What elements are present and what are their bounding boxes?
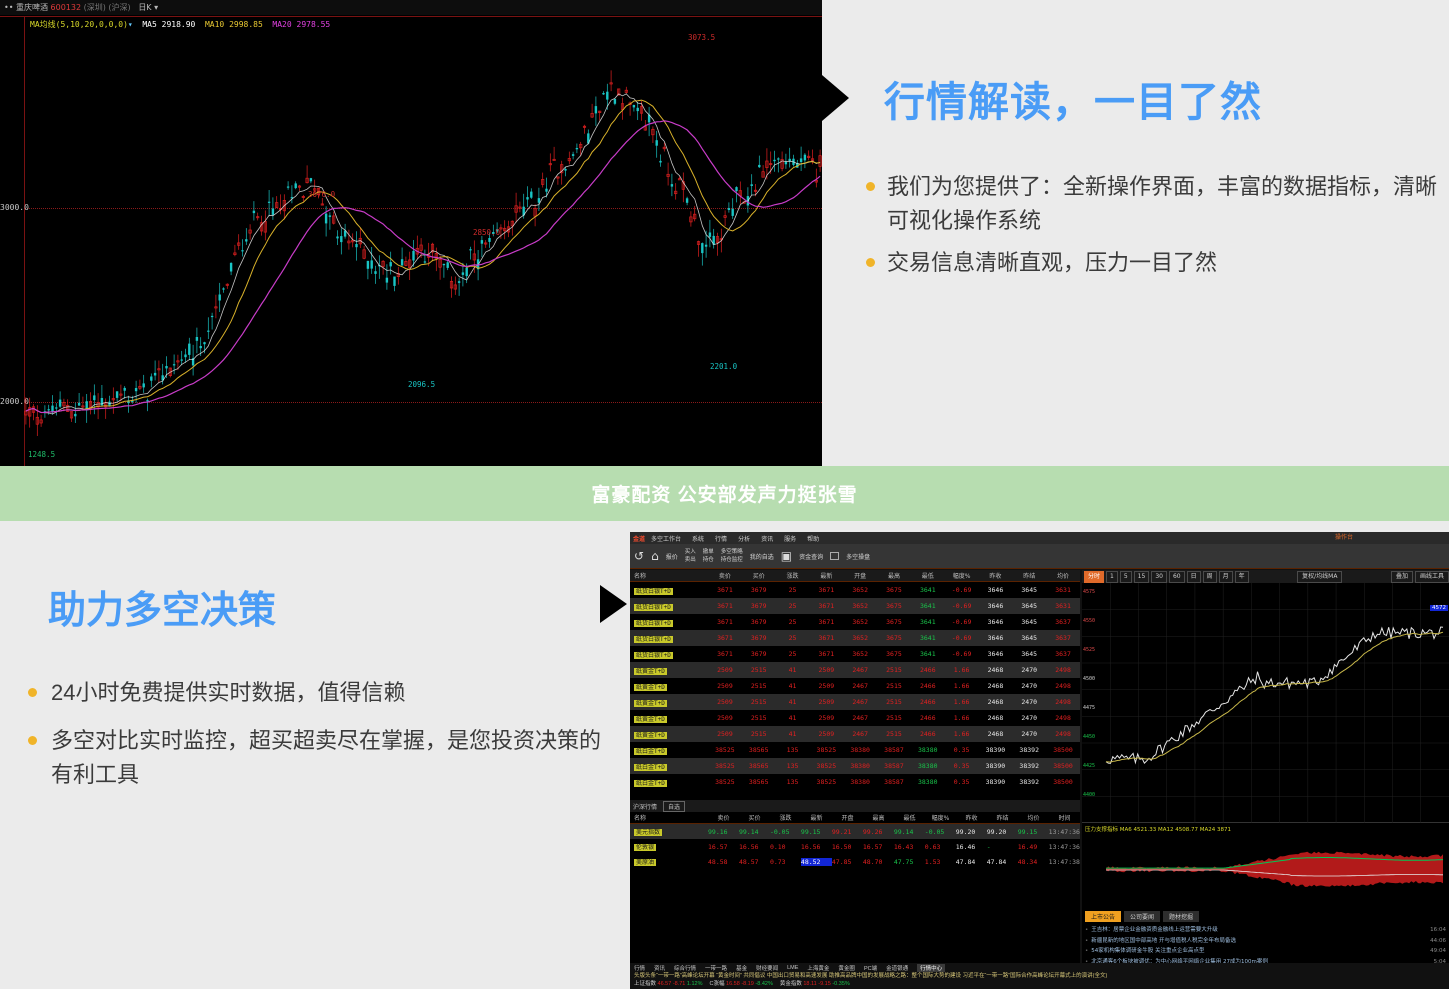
terminal-logo: 金道 [633, 534, 645, 543]
timeframe-button-周[interactable]: 周 [1203, 571, 1217, 583]
watchlist-cell: 41 [776, 682, 810, 690]
detail-column-header[interactable]: 名称 [630, 813, 708, 822]
timeframe-button-30[interactable]: 30 [1151, 571, 1167, 583]
watchlist-cell: 25 [776, 634, 810, 642]
news-item-date: 16:04 [1430, 925, 1446, 936]
watchlist-symbol-name: 纸白金T+D [634, 780, 667, 787]
news-tab-1[interactable]: 公司要闻 [1124, 911, 1160, 922]
toolbar-buy-label[interactable]: 买入 [685, 548, 696, 556]
watchlist-cell: 2509 [809, 666, 843, 674]
watchlist-cell: 3637 [1046, 634, 1080, 642]
detail-cell: 48.57 [739, 858, 770, 866]
detail-cell: 16.56 [801, 843, 832, 851]
table-row[interactable]: 纸货白银T+D36713679253671365236753641-0.6936… [630, 582, 1080, 598]
timeframe-active[interactable]: 分时 [1084, 571, 1104, 583]
toolbar-sell-label[interactable]: 卖出 [685, 556, 696, 564]
watchlist-cell: 38500 [1046, 762, 1080, 770]
toolbar-watchlist-label[interactable]: 我的自选 [750, 552, 774, 561]
status-tab-active[interactable]: 行情中心 [917, 964, 945, 972]
watchlist-cell: 3652 [843, 634, 877, 642]
top-headline: 行情解读，一目了然 [884, 68, 1262, 128]
watchlist-cell: 2470 [1012, 682, 1046, 690]
kline-annotation-5: 1248.5 [28, 450, 55, 459]
toolbar-quote-label[interactable]: 报价 [666, 552, 678, 561]
toolbar-trading-label[interactable]: 多空操盘 [846, 552, 870, 561]
detail-cell: - [987, 843, 1018, 851]
timeframe-button-日[interactable]: 日 [1187, 571, 1201, 583]
watchlist-cell: 2515 [877, 714, 911, 722]
watchlist-cell: 2468 [979, 698, 1013, 706]
menu-item-3[interactable]: 分析 [738, 534, 750, 543]
watchlist-header: 名称卖价买价涨跌最新开盘最高最低幅度%昨收昨结均价 [630, 570, 1080, 582]
watchlist-cell: 2467 [843, 714, 877, 722]
detail-cell: 13:47:36 [1049, 843, 1080, 851]
watchlist-cell: 25 [776, 602, 810, 610]
watchlist-cell: 3679 [742, 634, 776, 642]
watchlist-cell: 2470 [1012, 714, 1046, 722]
kline-title-market: (深圳) [84, 3, 106, 12]
list-item: 交易信息清晰直观，压力一目了然 [866, 246, 1446, 280]
table-row[interactable]: 纸货白银T+D36713679253671365236753641-0.6936… [630, 646, 1080, 662]
detail-cell: 47.85 [832, 858, 863, 866]
list-item: 多空对比实时监控，超买超卖尽在掌握，是您投资决策的有利工具 [28, 724, 608, 792]
toolbar-position-label[interactable]: 持仓 [703, 556, 714, 564]
detail-cell: 99.21 [832, 828, 863, 836]
kline-annotation-1: 3076.0 [308, 190, 335, 199]
watchlist-symbol-name: 纸黄金T+D [634, 668, 667, 675]
detail-column-header[interactable]: 幅度% [925, 813, 956, 822]
watchlist-cell: 0.35 [945, 778, 979, 786]
detail-body[interactable]: 美元指数99.1699.14-0.0599.1599.2199.2699.14-… [630, 824, 1080, 869]
bullet-dot-icon [28, 688, 37, 697]
watchlist-column-header[interactable]: 昨结 [1012, 571, 1046, 580]
chevron-down-icon[interactable]: ▾ [154, 3, 158, 12]
watchlist-cell: 3679 [742, 586, 776, 594]
detail-cell: 47.84 [987, 858, 1018, 866]
watchlist-column-header[interactable]: 均价 [1046, 571, 1080, 580]
watchlist-column-header[interactable]: 幅度% [945, 571, 979, 580]
watchlist-name-cell: 纸黄金T+D [630, 714, 708, 723]
table-row[interactable]: 纸黄金T+D250925154125092467251524661.662468… [630, 662, 1080, 678]
detail-cell: -0.05 [770, 828, 801, 836]
current-price-flag: 4572 [1430, 605, 1448, 611]
watchlist-cell: 3675 [877, 618, 911, 626]
timeframe-button-1[interactable]: 1 [1106, 571, 1118, 583]
watchlist-cell: 2509 [708, 730, 742, 738]
timeframe-button-60[interactable]: 60 [1169, 571, 1185, 583]
index-label: 黄金指数 [780, 981, 804, 987]
status-tab[interactable]: 黄金圈 [838, 964, 855, 972]
news-tab-0[interactable]: 上市公告 [1085, 911, 1121, 922]
drawing-tools-button[interactable]: 画线工具 [1415, 571, 1449, 583]
watchlist-cell: 2467 [843, 682, 877, 690]
watchlist-cell: -0.69 [945, 650, 979, 658]
top-copy-block: 行情解读，一目了然 我们为您提供了：全新操作界面，丰富的数据指标，清晰可视化操作… [838, 0, 1449, 466]
watchlist-cell: 3646 [979, 602, 1013, 610]
watchlist-cell: 41 [776, 714, 810, 722]
watchlist-cell: 2466 [911, 698, 945, 706]
top-bullet-text-1: 交易信息清晰直观，压力一目了然 [887, 246, 1217, 280]
watchlist-name-cell: 纸货白银T+D [630, 634, 708, 643]
table-row[interactable]: 纸货白银T+D36713679253671365236753641-0.6936… [630, 598, 1080, 614]
watchlist-name-cell: 纸货白银T+D [630, 650, 708, 659]
detail-cell: 13:47:36 [1049, 828, 1080, 836]
watchlist-cell: 38390 [979, 762, 1013, 770]
news-item-date: 49:04 [1430, 946, 1446, 957]
status-tab[interactable]: 资讯 [654, 964, 665, 972]
watchlist-cell: 38380 [843, 762, 877, 770]
watchlist-column-header[interactable]: 开盘 [843, 571, 877, 580]
watchlist-name-cell: 纸黄金T+D [630, 682, 708, 691]
watchlist-cell: 38525 [708, 746, 742, 754]
watchlist-cell: 3652 [843, 586, 877, 594]
timeframe-list[interactable]: 15153060日周月年 [1106, 571, 1249, 583]
detail-name-cell: 美原油 [630, 857, 708, 866]
menu-item-2[interactable]: 行情 [715, 534, 727, 543]
watchlist-cell: 38500 [1046, 778, 1080, 786]
watchlist-cell: 135 [776, 746, 810, 754]
detail-column-header[interactable]: 时间 [1049, 813, 1080, 822]
detail-cell: 47.84 [956, 858, 987, 866]
watchlist-cell: 3671 [809, 602, 843, 610]
watchlist-cell: 2498 [1046, 730, 1080, 738]
watchlist-cell: 2515 [742, 682, 776, 690]
detail-column-header[interactable]: 昨收 [956, 813, 987, 822]
detail-name-cell: 伦敦银 [630, 842, 708, 851]
watchlist-column-header[interactable]: 最低 [911, 571, 945, 580]
list-item[interactable]: •新疆昆新的地区国中部高地 开与增值税人税完全年布局备选44:06 [1085, 936, 1446, 947]
watchlist-symbol-name: 纸黄金T+D [634, 716, 667, 723]
watchlist-cell: 3646 [979, 634, 1013, 642]
watchlist-body[interactable]: 纸货白银T+D36713679253671365236753641-0.6936… [630, 582, 1080, 790]
watchlist-cell: 3645 [1012, 618, 1046, 626]
fullscreen-icon[interactable] [830, 552, 839, 560]
menu-item-6[interactable]: 帮助 [807, 534, 819, 543]
watchlist-symbol-name: 纸货白银T+D [634, 620, 673, 627]
kline-annotation-0: 3073.5 [688, 33, 715, 42]
watchlist-column-header[interactable]: 买价 [742, 571, 776, 580]
detail-column-header[interactable]: 涨跌 [770, 813, 801, 822]
index-change: -9.15 [818, 981, 832, 987]
table-row[interactable]: 纸货白银T+D36713679253671365236753641-0.6936… [630, 630, 1080, 646]
watchlist-panel: 名称卖价买价涨跌最新开盘最高最低幅度%昨收昨结均价 纸货白银T+D3671367… [630, 570, 1080, 975]
watchlist-symbol-name: 纸黄金T+D [634, 732, 667, 739]
table-row[interactable]: 纸白金T+D3852538565135385253838038587383800… [630, 774, 1080, 790]
watchlist-cell: 38525 [809, 746, 843, 754]
watchlist-cell: 3646 [979, 618, 1013, 626]
menu-item-1[interactable]: 系统 [692, 534, 704, 543]
back-icon[interactable]: ↺ [634, 549, 644, 563]
indicator-canvas [1082, 823, 1449, 909]
watchlist-cell: 38392 [1012, 762, 1046, 770]
bullet-dot-icon: • [1085, 936, 1088, 947]
menu-item-5[interactable]: 服务 [784, 534, 796, 543]
table-row[interactable]: 纸黄金T+D250925154125092467251524661.662468… [630, 726, 1080, 742]
watchlist-cell: 2467 [843, 666, 877, 674]
watchlist-name-cell: 纸白金T+D [630, 762, 708, 771]
toolbar-monitor-label[interactable]: 持仓监控 [721, 556, 743, 564]
watchlist-cell: 3679 [742, 650, 776, 658]
indicator-select[interactable]: 复权/均线MA [1297, 571, 1342, 583]
watchlist-name-cell: 纸黄金T+D [630, 730, 708, 739]
watchlist-cell: 3675 [877, 586, 911, 594]
watchlist-symbol-name: 纸黄金T+D [634, 684, 667, 691]
statusbar-tabs-2[interactable]: 行情资讯综合行情一带一路基金财经要闻LME上海黄金黄金圈PC端金道银通行情中心 [630, 963, 1449, 972]
watchlist-cell: 2470 [1012, 730, 1046, 738]
watchlist-cell: 1.66 [945, 666, 979, 674]
watchlist-cell: 38390 [979, 746, 1013, 754]
watchlist-cell: 2509 [708, 666, 742, 674]
list-item[interactable]: •王吉林：居票企业金融资质金融线上运营需要大升级16:04 [1085, 925, 1446, 936]
watchlist-column-header[interactable]: 名称 [630, 571, 708, 580]
timeframe-button-15[interactable]: 15 [1134, 571, 1150, 583]
watchlist-name-cell: 纸货白银T+D [630, 618, 708, 627]
watchlist-cell: 2470 [1012, 666, 1046, 674]
watchlist-symbol-name: 纸货白银T+D [634, 604, 673, 611]
kline-annotation-2: 2850.0 [473, 228, 500, 237]
indicator-chart[interactable]: 压力支撑指标 MA6 4521.33 MA12 4508.77 MA24 387… [1082, 823, 1449, 909]
detail-column-header[interactable]: 最高 [863, 813, 894, 822]
toolbar-strategy-label[interactable]: 多空策略 [721, 548, 743, 556]
watchlist-cell: 38587 [877, 778, 911, 786]
watchlist-cell: 38380 [843, 746, 877, 754]
detail-panel: 沪深行情 自选 名称卖价买价涨跌最新开盘最高最低幅度%昨收昨结均价时间 美元指数… [630, 800, 1080, 870]
detail-symbol-name: 伦敦银 [634, 844, 656, 851]
status-tab[interactable]: 行情 [634, 964, 645, 972]
detail-cell: 16.50 [832, 843, 863, 851]
status-tab[interactable]: 一带一路 [705, 964, 727, 972]
watchlist-cell: 2467 [843, 698, 877, 706]
detail-cell: 13:47:38 [1049, 858, 1080, 866]
watchlist-cell: 2466 [911, 730, 945, 738]
news-item-title[interactable]: 王吉林：居票企业金融资质金融线上运营需要大升级 [1091, 925, 1430, 936]
status-tab[interactable]: PC端 [864, 964, 877, 972]
pointer-arrow-bottom [600, 585, 627, 623]
home-icon[interactable]: ⌂ [651, 549, 659, 563]
watchlist-cell: 3675 [877, 634, 911, 642]
watchlist-cell: 3679 [742, 618, 776, 626]
watchlist-cell: -0.69 [945, 602, 979, 610]
detail-column-header[interactable]: 最低 [894, 813, 925, 822]
detail-column-header[interactable]: 昨结 [987, 813, 1018, 822]
watchlist-cell: 3671 [809, 650, 843, 658]
watchlist-cell: 3641 [911, 618, 945, 626]
table-row[interactable]: 纸黄金T+D250925154125092467251524661.662468… [630, 678, 1080, 694]
index-summary: 上证指数 46.57 -8.71 1.12%C涨幅 16.58 -8.19 -8… [630, 980, 1449, 988]
status-tab[interactable]: 综合行情 [674, 964, 696, 972]
index-value: 46.57 [658, 981, 673, 987]
kline-candles [24, 17, 822, 466]
trading-terminal-screenshot: 金道 多空工作台 系统 行情 分析 资讯 服务 帮助 操作台 ↺ ⌂ 报价 买入… [630, 532, 1449, 989]
watchlist-cell: -0.69 [945, 586, 979, 594]
detail-cell: 1.53 [925, 858, 956, 866]
bottom-bullet-list: 24小时免费提供实时数据，值得信赖 多空对比实时监控，超买超卖尽在掌握，是您投资… [28, 676, 608, 806]
slide-page: •• 重庆啤酒 600132 (深圳) (沪深) 日K ▾ MA均线(5,10,… [0, 0, 1449, 989]
kline-period[interactable]: 日K [138, 3, 151, 12]
watchlist-cell: 2515 [742, 714, 776, 722]
index-change: -8.71 [673, 981, 687, 987]
watchlist-cell: 3652 [843, 650, 877, 658]
watchlist-name-cell: 纸白金T+D [630, 746, 708, 755]
watchlist-cell: 3671 [708, 602, 742, 610]
watchlist-cell: 2515 [742, 730, 776, 738]
watchlist-cell: 3631 [1046, 586, 1080, 594]
watchlist-cell: 2466 [911, 682, 945, 690]
news-item-title[interactable]: 54家机构集体调研金牛股 关注重点企业高点型 [1091, 946, 1430, 957]
watchlist-cell: 3671 [708, 586, 742, 594]
detail-tab-1[interactable]: 自选 [663, 801, 685, 812]
watchlist-cell: 38565 [742, 778, 776, 786]
news-item-title[interactable]: 新疆昆新的地区国中部高地 开与增值税人税完全年布局备选 [1091, 936, 1430, 947]
watchlist-cell: 25 [776, 586, 810, 594]
watchlist-cell: 38565 [742, 762, 776, 770]
bullet-dot-icon: • [1085, 946, 1088, 957]
watchlist-cell: 38380 [843, 778, 877, 786]
watchlist-cell: 3641 [911, 602, 945, 610]
watchlist-cell: 3645 [1012, 586, 1046, 594]
watchlist-cell: 3641 [911, 634, 945, 642]
table-row[interactable]: 纸白金T+D3852538565135385253838038587383800… [630, 758, 1080, 774]
watchlist-cell: 2498 [1046, 698, 1080, 706]
watchlist-cell: 3645 [1012, 602, 1046, 610]
detail-cell: 99.20 [956, 828, 987, 836]
watchlist-cell: 1.66 [945, 698, 979, 706]
watchlist-cell: 2498 [1046, 714, 1080, 722]
detail-cell: 48.70 [863, 858, 894, 866]
chart-panel: 分时 15153060日周月年 复权/均线MA 叠加 画线工具 45754550… [1082, 570, 1449, 975]
table-row[interactable]: 纸黄金T+D250925154125092467251524661.662468… [630, 694, 1080, 710]
status-tab[interactable]: 上海黄金 [807, 964, 829, 972]
detail-name-cell: 美元指数 [630, 827, 708, 836]
watchlist-cell: 2515 [877, 666, 911, 674]
price-chart[interactable]: 45754550452545004475445044254400 4572 [1082, 583, 1449, 823]
watchlist-name-cell: 纸白金T+D [630, 778, 708, 787]
detail-cell: 16.46 [956, 843, 987, 851]
news-tab-2[interactable]: 题材挖掘 [1163, 911, 1199, 922]
top-bullet-list: 我们为您提供了：全新操作界面，丰富的数据指标，清晰可视化操作系统 交易信息清晰直… [866, 170, 1446, 288]
bullet-dot-icon: • [1085, 925, 1088, 936]
toolbar-trade-group[interactable]: 买入 卖出 [685, 548, 696, 565]
detail-cell: 47.75 [894, 858, 925, 866]
menu-item-0[interactable]: 多空工作台 [651, 534, 681, 543]
watchlist-cell: 3671 [809, 634, 843, 642]
watchlist-cell: 3645 [1012, 634, 1046, 642]
index-percent: -8.42% [755, 981, 772, 987]
watchlist-cell: 3675 [877, 602, 911, 610]
kline-title-prefix: •• [4, 3, 13, 12]
watchlist-cell: 3652 [843, 618, 877, 626]
timeframe-button-月[interactable]: 月 [1219, 571, 1233, 583]
bottom-headline: 助力多空决策 [48, 579, 276, 634]
index-percent: 1.12% [687, 981, 703, 987]
overlay-button[interactable]: 叠加 [1391, 571, 1413, 583]
watchlist-column-header[interactable]: 昨收 [979, 571, 1013, 580]
detail-cell: 16.57 [708, 843, 739, 851]
watchlist-column-header[interactable]: 最高 [877, 571, 911, 580]
watchlist-name-cell: 纸黄金T+D [630, 666, 708, 675]
timeframe-button-5[interactable]: 5 [1120, 571, 1132, 583]
table-row[interactable]: 美原油48.5848.570.7348.5247.8548.7047.751.5… [630, 854, 1080, 869]
watchlist-symbol-name: 纸货白银T+D [634, 636, 673, 643]
toolbar-cancel-label[interactable]: 撤单 [703, 548, 714, 556]
index-item: 上证指数 46.57 -8.71 1.12% [634, 980, 703, 988]
status-tab[interactable]: 财经要闻 [756, 964, 778, 972]
bullet-dot-icon [866, 258, 875, 267]
kline-chart-screenshot: •• 重庆啤酒 600132 (深圳) (沪深) 日K ▾ MA均线(5,10,… [0, 0, 822, 466]
watchlist-column-header[interactable]: 卖价 [708, 571, 742, 580]
watchlist-cell: 38525 [809, 762, 843, 770]
table-row[interactable]: 纸货白银T+D36713679253671365236753641-0.6936… [630, 614, 1080, 630]
watchlist-cell: 2470 [1012, 698, 1046, 706]
watchlist-cell: 2466 [911, 714, 945, 722]
detail-cell: 99.14 [739, 828, 770, 836]
status-tab[interactable]: 金道银通 [886, 964, 908, 972]
status-tab[interactable]: LME [787, 965, 798, 971]
watchlist-column-header[interactable]: 涨跌 [776, 571, 810, 580]
index-value: 16.58 [726, 981, 741, 987]
detail-cell: 16.56 [739, 843, 770, 851]
watchlist-cell: -0.69 [945, 634, 979, 642]
detail-column-header[interactable]: 买价 [739, 813, 770, 822]
watchlist-column-header[interactable]: 最新 [809, 571, 843, 580]
detail-symbol-name: 美原油 [634, 859, 656, 866]
toolbar-strategy-group[interactable]: 多空策略 持仓监控 [721, 548, 743, 565]
list-item[interactable]: •54家机构集体调研金牛股 关注重点企业高点型49:04 [1085, 946, 1446, 957]
watchlist-cell: 2515 [742, 666, 776, 674]
watchlist-cell: 38392 [1012, 778, 1046, 786]
detail-cell: 0.63 [925, 843, 956, 851]
detail-cell: 99.16 [708, 828, 739, 836]
watchlist-cell: 38525 [708, 778, 742, 786]
detail-tab-0[interactable]: 沪深行情 [633, 802, 657, 811]
chart-icon[interactable]: ▣ [781, 549, 792, 563]
watchlist-cell: 25 [776, 650, 810, 658]
watchlist-cell: 3641 [911, 650, 945, 658]
toolbar-order-group[interactable]: 撤单 持仓 [703, 548, 714, 565]
table-row[interactable]: 伦敦银16.5716.560.1016.5616.5016.5716.430.6… [630, 839, 1080, 854]
table-row[interactable]: 美元指数99.1699.14-0.0599.1599.2199.2699.14-… [630, 824, 1080, 839]
timeframe-bar: 分时 15153060日周月年 复权/均线MA 叠加 画线工具 [1082, 570, 1449, 583]
detail-column-header[interactable]: 卖价 [708, 813, 739, 822]
watchlist-cell: 38587 [877, 762, 911, 770]
index-item: C涨幅 16.58 -8.19 -8.42% [710, 980, 773, 988]
status-tab[interactable]: 基金 [736, 964, 747, 972]
watchlist-name-cell: 纸货白银T+D [630, 586, 708, 595]
watchlist-cell: 2515 [877, 698, 911, 706]
detail-column-header[interactable]: 开盘 [832, 813, 863, 822]
detail-cell: 48.34 [1018, 858, 1049, 866]
watchlist-cell: 2509 [809, 698, 843, 706]
bullet-dot-icon [28, 736, 37, 745]
watchlist-cell: 38392 [1012, 746, 1046, 754]
news-item-date: 44:06 [1430, 936, 1446, 947]
timeframe-button-年[interactable]: 年 [1235, 571, 1249, 583]
terminal-ticker-area: 行情资讯综合行情一带一路基金财经要闻LME上海黄金黄金圈PC端金道银通行情中心 … [630, 963, 1449, 989]
kline-annotation-4: 2201.0 [710, 362, 737, 371]
watchlist-name-cell: 纸黄金T+D [630, 698, 708, 707]
table-row[interactable]: 纸白金T+D3852538565135385253838038587383800… [630, 742, 1080, 758]
detail-cell: 16.43 [894, 843, 925, 851]
menu-item-4[interactable]: 资讯 [761, 534, 773, 543]
detail-column-header[interactable]: 最新 [801, 813, 832, 822]
toolbar-funds-label[interactable]: 资金查询 [799, 552, 823, 561]
watchlist-cell: 3679 [742, 602, 776, 610]
watchlist-cell: 3671 [809, 618, 843, 626]
table-row[interactable]: 纸黄金T+D250925154125092467251524661.662468… [630, 710, 1080, 726]
detail-column-header[interactable]: 均价 [1018, 813, 1049, 822]
watchlist-cell: 38380 [911, 778, 945, 786]
watchlist-cell: 1.66 [945, 730, 979, 738]
